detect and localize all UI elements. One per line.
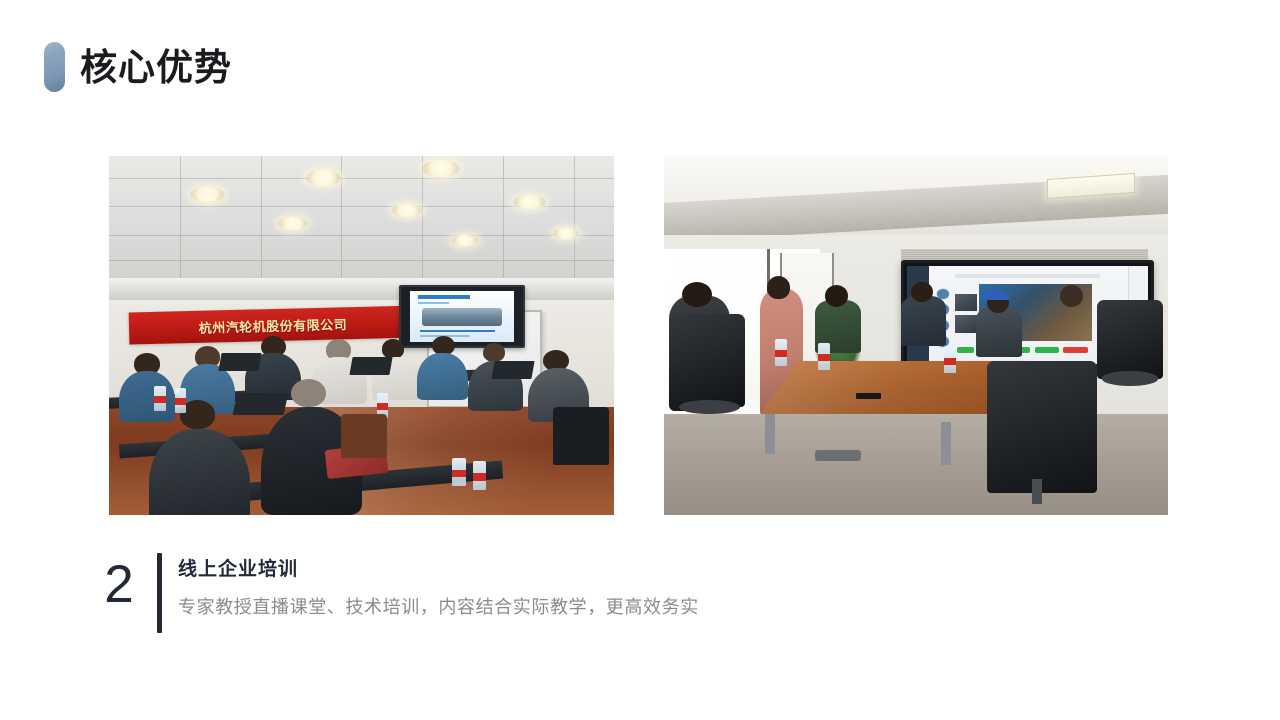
attendee-head bbox=[291, 379, 326, 408]
office-chair bbox=[669, 314, 745, 407]
ceiling-downlight-icon bbox=[278, 217, 308, 230]
ceiling-grid-line bbox=[109, 178, 614, 179]
attendee-seated bbox=[1047, 300, 1097, 354]
ceiling-grid-line bbox=[341, 156, 342, 278]
caption-body: 专家教授直播课堂、技术培训，内容结合实际教学，更高效务实 bbox=[178, 593, 699, 619]
caption-divider bbox=[157, 553, 162, 633]
offline-classroom-training-photo: 杭州汽轮机股份有限公司 bbox=[109, 156, 614, 515]
blue-cap bbox=[984, 291, 1009, 300]
presenter-head bbox=[767, 276, 790, 299]
water-bottle bbox=[473, 461, 486, 490]
photo-left-canvas: 杭州汽轮机股份有限公司 bbox=[109, 156, 614, 515]
photo-right-canvas bbox=[664, 156, 1168, 515]
attendee-head bbox=[825, 285, 848, 307]
laptop bbox=[491, 361, 535, 379]
attendee-head bbox=[432, 336, 455, 356]
attendee-seated bbox=[976, 307, 1021, 357]
pill-marker-icon bbox=[44, 42, 65, 92]
smartphone bbox=[856, 393, 881, 399]
ceiling-downlight-icon bbox=[452, 235, 477, 246]
slide-text-line bbox=[418, 302, 449, 304]
wooden-chair bbox=[341, 414, 386, 457]
laptop bbox=[350, 357, 394, 375]
office-chair bbox=[1097, 300, 1163, 379]
video-thumbnail bbox=[955, 315, 977, 333]
water-bottle bbox=[154, 386, 165, 411]
attendee-seated bbox=[901, 296, 946, 346]
water-bottle bbox=[944, 346, 956, 373]
chair-base bbox=[1102, 371, 1157, 385]
attendee-head bbox=[1060, 285, 1083, 307]
table-leg bbox=[765, 414, 775, 453]
online-meeting-room-photo bbox=[664, 156, 1168, 515]
caption-number: 2 bbox=[96, 558, 142, 611]
table-foot bbox=[815, 450, 860, 461]
table-leg bbox=[941, 422, 951, 465]
attendee-head bbox=[682, 282, 712, 307]
laptop bbox=[233, 393, 288, 415]
attendee bbox=[119, 371, 175, 421]
ceiling-downlight-icon bbox=[553, 228, 578, 239]
ceiling-grid-line bbox=[109, 260, 614, 261]
page-title: 核心优势 bbox=[80, 49, 232, 86]
ceiling-grid-line bbox=[503, 156, 504, 278]
slide-title-bar bbox=[418, 295, 470, 299]
slide-caption-bar bbox=[420, 330, 495, 333]
ceiling-grid-line bbox=[109, 235, 614, 236]
caption-heading: 线上企业培训 bbox=[178, 554, 298, 581]
water-bottle bbox=[175, 388, 186, 413]
projector-screen bbox=[399, 285, 524, 348]
ceiling-downlight-icon bbox=[190, 187, 225, 203]
ceiling-grid-line bbox=[261, 156, 262, 278]
app-toolbar bbox=[955, 274, 1100, 278]
water-bottle bbox=[775, 339, 787, 366]
ceiling-grid-line bbox=[574, 156, 575, 278]
attendee bbox=[417, 353, 468, 400]
caption-block: 2 线上企业培训 专家教授直播课堂、技术培训，内容结合实际教学，更高效务实 bbox=[96, 548, 796, 643]
projector-screen-content bbox=[410, 291, 514, 342]
slide-diagram bbox=[422, 308, 501, 325]
ceiling-grid-line bbox=[422, 156, 423, 278]
slide-title-group: 核心优势 bbox=[44, 40, 232, 94]
video-thumbnail bbox=[955, 294, 977, 312]
attendee-head bbox=[382, 339, 405, 359]
attendee-head bbox=[483, 343, 506, 363]
action-button-green bbox=[957, 347, 974, 354]
water-bottle bbox=[818, 343, 830, 370]
ceiling-grid-line bbox=[180, 156, 181, 278]
water-bottle bbox=[452, 458, 465, 487]
ceiling bbox=[109, 156, 614, 292]
laptop bbox=[219, 353, 263, 371]
chair bbox=[553, 407, 609, 464]
ceiling-downlight-icon bbox=[513, 195, 546, 209]
chair-stem bbox=[1032, 479, 1042, 504]
office-chair-foreground bbox=[987, 361, 1098, 494]
ceiling-downlight-icon bbox=[422, 160, 460, 177]
